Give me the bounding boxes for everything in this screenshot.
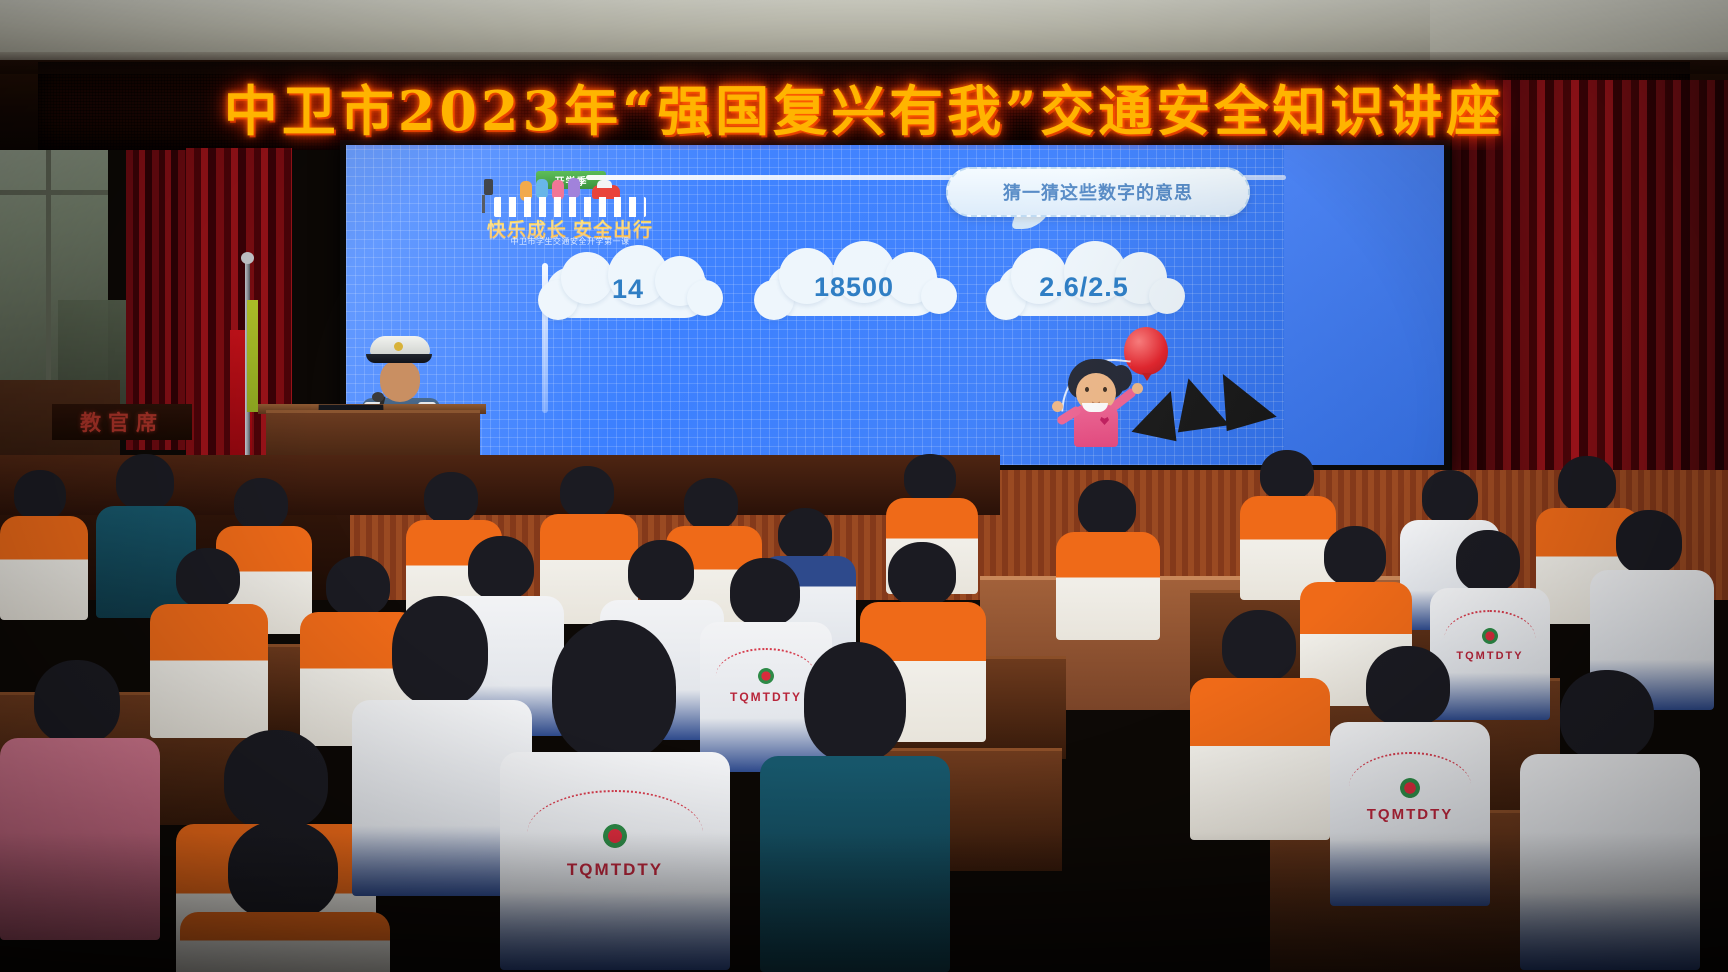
- student-head: [730, 558, 800, 626]
- student-head: [1260, 450, 1314, 500]
- girl-eye-right: [1103, 387, 1107, 392]
- student-head: [1222, 610, 1296, 682]
- cloud-puff: [921, 278, 957, 314]
- slide-right-margin: [1284, 145, 1444, 465]
- uniform-back-text: TQMTDTY: [1362, 806, 1458, 823]
- student-head: [1422, 470, 1478, 524]
- flag-green-strip: [247, 300, 258, 412]
- student-head: [224, 730, 328, 830]
- student-head: [1324, 526, 1386, 586]
- flagpole-finial: [241, 252, 254, 264]
- student-head: [116, 454, 174, 510]
- student-head: [234, 478, 288, 530]
- student-head: [888, 542, 956, 606]
- student: TQMTDTY: [500, 620, 730, 970]
- logo-child-4: [568, 178, 580, 198]
- microphone-icon: [372, 392, 384, 402]
- uniform-back-text: TQMTDTY: [546, 860, 684, 880]
- student-head: [560, 466, 614, 518]
- led-banner: 中卫市2023年“强国复兴有我”交通安全知识讲座: [38, 62, 1690, 150]
- cloud-number-3: 2.6/2.5: [982, 241, 1186, 333]
- window-mullion-horizontal: [0, 190, 108, 195]
- student: [0, 470, 88, 620]
- student: [760, 642, 950, 972]
- student-uniform: [150, 604, 268, 738]
- student-uniform: TQMTDTY: [500, 752, 730, 970]
- balloon-icon: [1124, 327, 1168, 375]
- cloud-number-2: 18500: [750, 241, 958, 333]
- student-head: [176, 548, 240, 608]
- student-head: [392, 596, 488, 706]
- student-head: [424, 472, 478, 524]
- crosswalk-icon: [494, 197, 646, 217]
- student-head: [778, 508, 832, 560]
- student-head: [684, 478, 738, 530]
- speech-bubble: 猜一猜这些数字的意思: [946, 167, 1250, 217]
- student-head: [1616, 510, 1682, 574]
- student: [1056, 480, 1160, 640]
- cloud-number-1: 14: [530, 243, 726, 335]
- student-uniform: [1190, 678, 1330, 840]
- student: [180, 820, 390, 972]
- student-head: [628, 540, 694, 604]
- officer-head: [380, 360, 420, 402]
- student-uniform: [1520, 754, 1700, 970]
- girl-eye-left: [1085, 387, 1089, 392]
- student-head: [468, 536, 534, 600]
- student-uniform: [180, 912, 390, 972]
- student-head: [552, 620, 676, 760]
- speech-bubble-text: 猜一猜这些数字的意思: [1003, 179, 1193, 205]
- officer-cap-brim: [366, 354, 432, 363]
- cloud-number-text: 18500: [814, 272, 894, 303]
- student: [1190, 610, 1330, 840]
- girl-hand-left: [1052, 401, 1063, 412]
- cap-badge-icon: [394, 342, 403, 351]
- student: [1520, 670, 1700, 970]
- school-emblem-icon: [1482, 628, 1498, 644]
- student-uniform: [1056, 532, 1160, 640]
- student: TQMTDTY: [1330, 646, 1490, 906]
- student-head: [1456, 530, 1520, 592]
- student-uniform: [760, 756, 950, 972]
- student-head: [804, 642, 906, 762]
- traffic-light-icon: [484, 179, 493, 195]
- student-head: [228, 820, 338, 920]
- cloud-number-text: 14: [612, 274, 644, 305]
- student-head: [14, 470, 66, 520]
- projection-screen: 开学季 快乐成长 安全出行 中卫市学生交通安全开学第一课 猜一猜这些数字的意思: [346, 145, 1444, 465]
- student: [0, 660, 160, 940]
- student-uniform: [0, 516, 88, 620]
- screenshot-root: 中卫市2023年“强国复兴有我”交通安全知识讲座 教官席 开学季 快乐成长 安全: [0, 0, 1728, 972]
- led-banner-text: 中卫市2023年“强国复兴有我”交通安全知识讲座: [224, 67, 1504, 146]
- cloud-puff: [1149, 278, 1185, 314]
- student-head: [1560, 670, 1654, 760]
- student-head: [1558, 456, 1616, 512]
- student-head: [34, 660, 120, 744]
- student-head: [1366, 646, 1450, 726]
- slide-logo: 开学季 快乐成长 安全出行 中卫市学生交通安全开学第一课: [474, 171, 654, 249]
- logo-child-2: [536, 179, 548, 199]
- school-emblem-icon: [1400, 778, 1420, 798]
- student-uniform: TQMTDTY: [1330, 722, 1490, 906]
- cloud-number-text: 2.6/2.5: [1039, 272, 1129, 303]
- student-head: [1078, 480, 1136, 536]
- student: [150, 548, 268, 738]
- audience-area: TQMTDTY TQMTDTY: [0, 430, 1728, 972]
- cloud-puff: [687, 280, 723, 316]
- student-head: [904, 454, 956, 502]
- school-emblem-icon: [603, 824, 627, 848]
- student-uniform: [0, 738, 160, 940]
